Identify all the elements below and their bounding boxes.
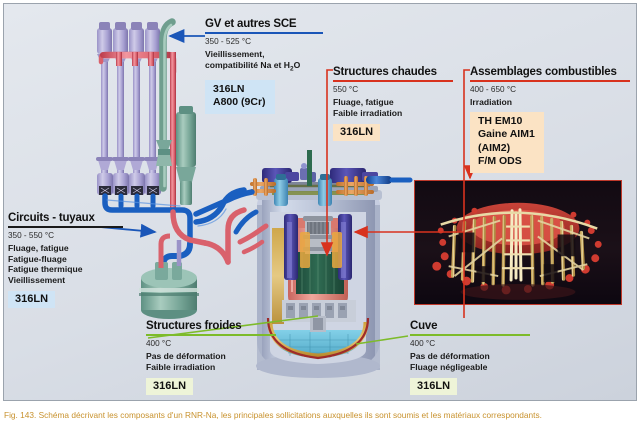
callout-temperature: 550 °C — [333, 85, 453, 95]
photo-content — [415, 181, 621, 305]
material-badge: Gaine AIM1 — [478, 128, 535, 142]
callout-line: Pas de déformation — [410, 351, 530, 362]
callout-rule — [333, 80, 453, 82]
callout-line: Irradiation — [470, 97, 630, 108]
callout-title: Cuve — [410, 320, 530, 333]
callout-line: Fatigue thermique — [8, 264, 123, 275]
callout-rule — [410, 334, 530, 336]
diagram-stage: GV et autres SCE 350 - 525 °C Vieillisse… — [0, 0, 640, 433]
material-badge: TH EM10 — [478, 115, 535, 129]
callout-temperature: 400 - 650 °C — [470, 85, 630, 95]
callout-circuits-tuyaux: Circuits - tuyaux 350 - 550 °C Fluage, f… — [8, 212, 123, 308]
callout-cuve: Cuve 400 °C Pas de déformation Fluage né… — [410, 320, 530, 395]
callout-temperature: 350 - 525 °C — [205, 37, 323, 47]
material-badge: F/M ODS — [478, 155, 535, 169]
material-badge-group: 316LN A800 (9Cr) — [205, 80, 275, 114]
callout-line: Faible irradiation — [146, 362, 276, 373]
material-badge: 316LN — [146, 378, 193, 395]
callout-title: Assemblages combustibles — [470, 66, 630, 79]
material-badge: 316LN — [8, 291, 55, 308]
sodium-pump-vessel — [139, 262, 199, 319]
callout-title: Structures froides — [146, 320, 276, 333]
callout-structures-chaudes: Structures chaudes 550 °C Fluage, fatigu… — [333, 66, 453, 141]
callout-line: Vieillissement, — [205, 49, 323, 60]
material-badge: A800 (9Cr) — [213, 96, 266, 110]
callout-title: Circuits - tuyaux — [8, 212, 123, 225]
material-badge: (AIM2) — [478, 142, 535, 156]
callout-line: Faible irradiation — [333, 108, 453, 119]
fuel-assembly-array-photograph — [414, 180, 622, 305]
callout-line: Fluage négligeable — [410, 362, 530, 373]
callout-rule — [146, 334, 276, 336]
figure-root: GV et autres SCE 350 - 525 °C Vieillisse… — [0, 0, 640, 433]
callout-title: GV et autres SCE — [205, 18, 323, 31]
callout-temperature: 400 °C — [146, 339, 276, 349]
callout-line: Fluage, fatigue — [333, 97, 453, 108]
callout-structures-froides: Structures froides 400 °C Pas de déforma… — [146, 320, 276, 395]
material-badge-group: TH EM10 Gaine AIM1 (AIM2) F/M ODS — [470, 112, 544, 173]
callout-rule — [470, 80, 630, 82]
material-badge: 316LN — [333, 124, 380, 141]
callout-temperature: 350 - 550 °C — [8, 231, 123, 241]
callout-line: Fatigue-fluage — [8, 254, 123, 265]
callout-gv-autres-sce: GV et autres SCE 350 - 525 °C Vieillisse… — [205, 18, 323, 114]
callout-rule — [8, 226, 123, 228]
material-badge: 316LN — [213, 83, 266, 97]
callout-line: compatibilité Na et H2O — [205, 60, 323, 75]
material-badge: 316LN — [410, 378, 457, 395]
callout-assemblages-combustibles: Assemblages combustibles 400 - 650 °C Ir… — [470, 66, 630, 173]
callout-line: Fluage, fatigue — [8, 243, 123, 254]
steam-generator-bank — [96, 22, 161, 195]
callout-title: Structures chaudes — [333, 66, 453, 79]
callout-line: Pas de déformation — [146, 351, 276, 362]
callout-line: Vieillissement — [8, 275, 123, 286]
callout-temperature: 400 °C — [410, 339, 530, 349]
callout-rule — [205, 32, 323, 34]
